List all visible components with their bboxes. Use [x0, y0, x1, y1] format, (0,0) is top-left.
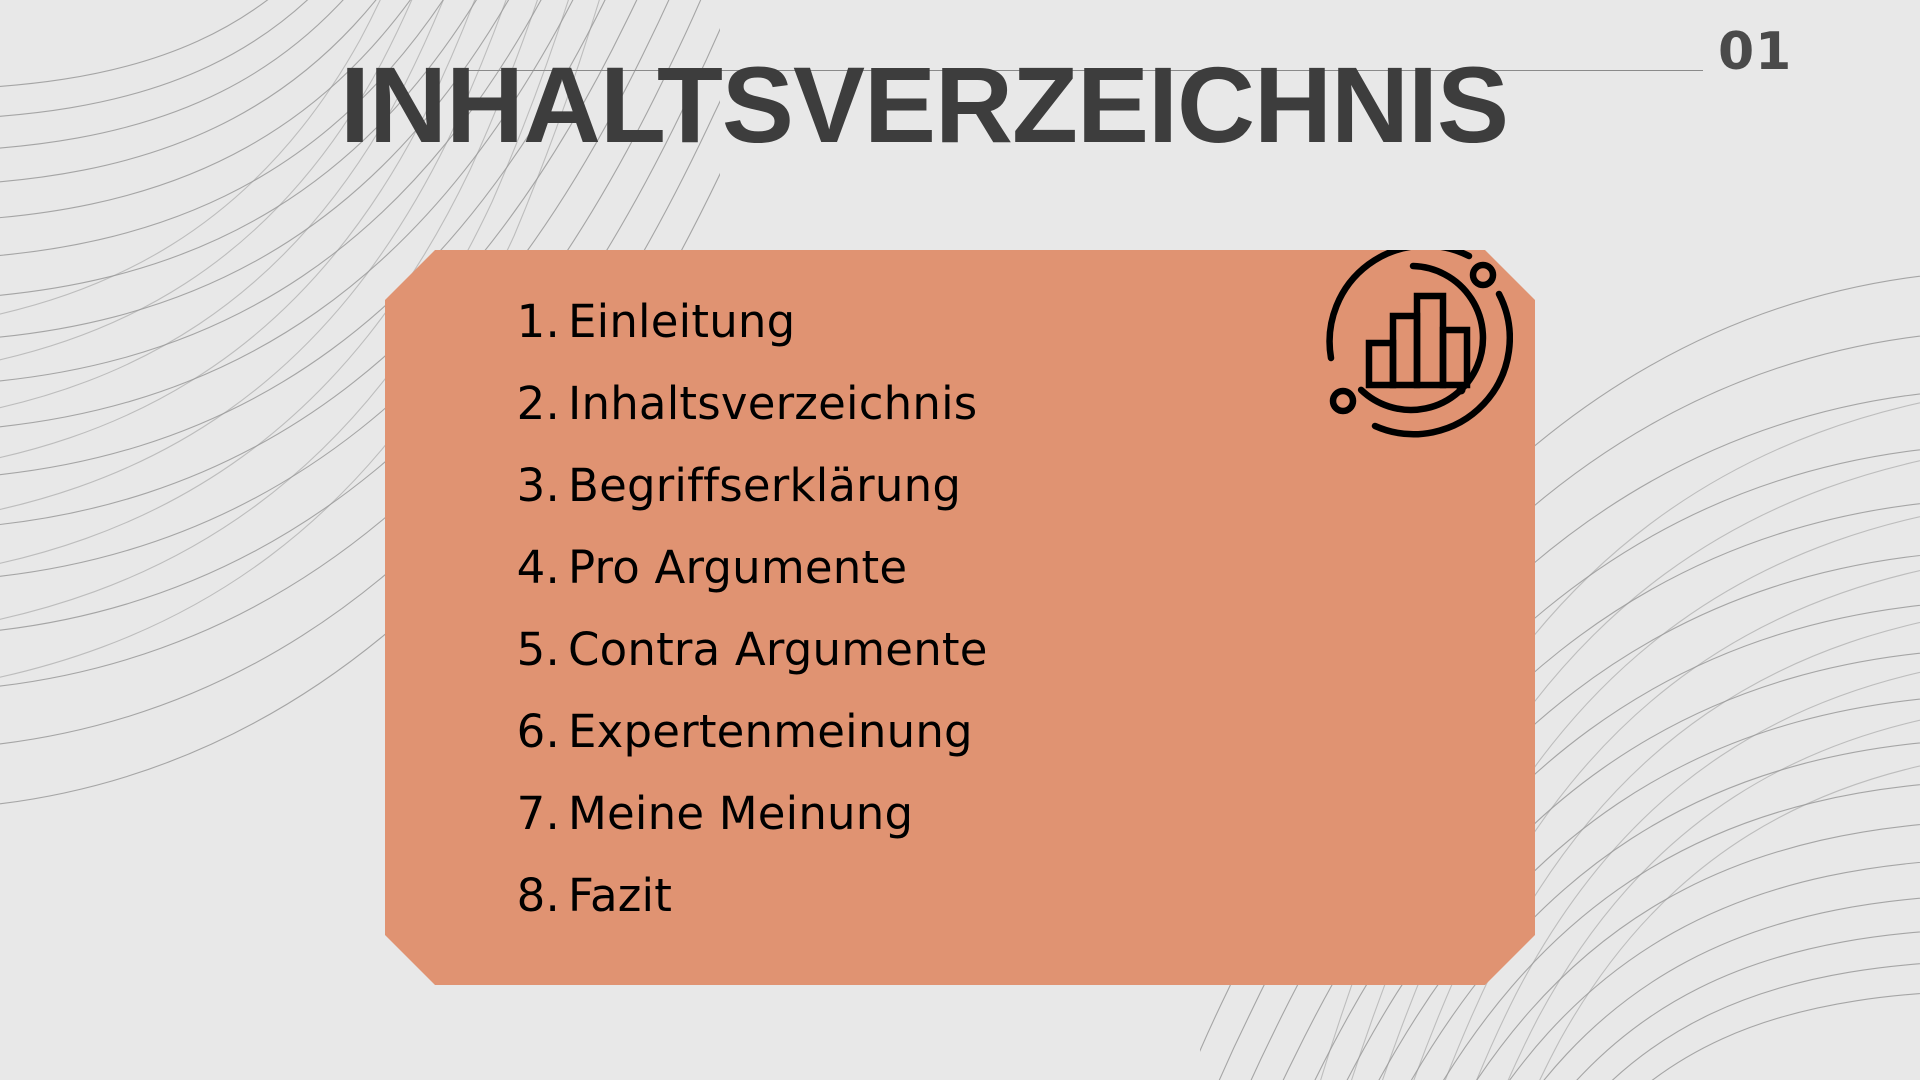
- list-item-label: Einleitung: [568, 281, 1535, 363]
- list-item[interactable]: 2. Inhaltsverzeichnis: [385, 363, 1535, 445]
- list-item-label: Inhaltsverzeichnis: [568, 363, 1535, 445]
- table-of-contents-panel: 1. Einleitung 2. Inhaltsverzeichnis 3. B…: [385, 250, 1535, 985]
- list-item-number: 3.: [385, 445, 568, 527]
- list-item-number: 8.: [385, 855, 568, 937]
- slide-inhaltsverzeichnis: INHALTSVERZEICHNIS 01: [0, 0, 1920, 1080]
- table-of-contents-list: 1. Einleitung 2. Inhaltsverzeichnis 3. B…: [385, 281, 1535, 937]
- list-item-number: 6.: [385, 691, 568, 773]
- list-item-number: 5.: [385, 609, 568, 691]
- list-item-number: 1.: [385, 281, 568, 363]
- list-item-number: 2.: [385, 363, 568, 445]
- list-item[interactable]: 8. Fazit: [385, 855, 1535, 937]
- list-item[interactable]: 3. Begriffserklärung: [385, 445, 1535, 527]
- list-item-label: Begriffserklärung: [568, 445, 1535, 527]
- list-item-label: Contra Argumente: [568, 609, 1535, 691]
- list-item-number: 7.: [385, 773, 568, 855]
- page-title: INHALTSVERZEICHNIS: [340, 50, 1660, 160]
- list-item[interactable]: 1. Einleitung: [385, 281, 1535, 363]
- list-item-label: Pro Argumente: [568, 527, 1535, 609]
- list-item-label: Expertenmeinung: [568, 691, 1535, 773]
- list-item[interactable]: 7. Meine Meinung: [385, 773, 1535, 855]
- list-item[interactable]: 5. Contra Argumente: [385, 609, 1535, 691]
- list-item[interactable]: 4. Pro Argumente: [385, 527, 1535, 609]
- list-item-label: Fazit: [568, 855, 1535, 937]
- list-item-label: Meine Meinung: [568, 773, 1535, 855]
- page-number: 01: [1718, 22, 1792, 82]
- list-item-number: 4.: [385, 527, 568, 609]
- list-item[interactable]: 6. Expertenmeinung: [385, 691, 1535, 773]
